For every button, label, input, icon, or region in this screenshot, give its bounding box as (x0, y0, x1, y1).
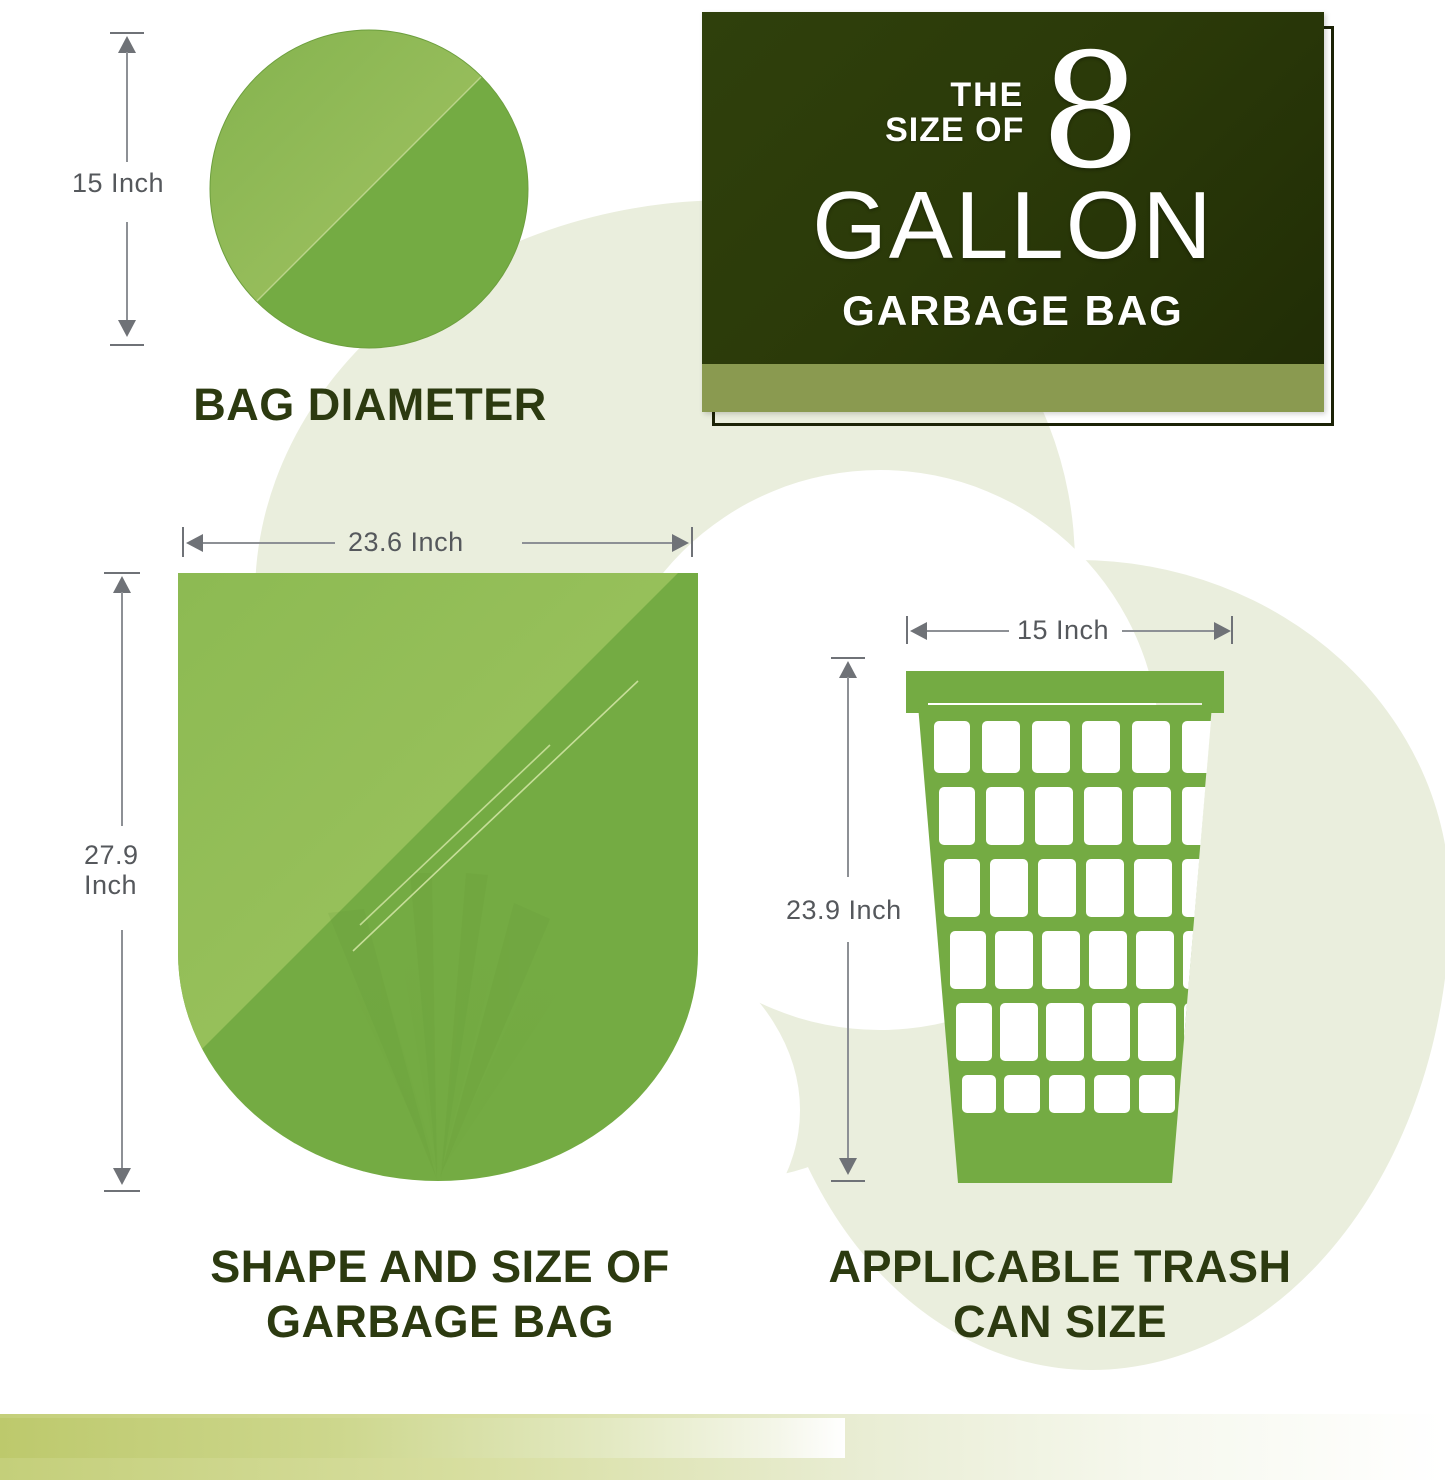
diameter-dim-arrow-up (118, 36, 136, 53)
can-width-cap-right (1231, 616, 1233, 644)
can-width-arrow-right (1214, 622, 1231, 640)
banner-top-row: THE SIZE OF 8 (885, 50, 1141, 183)
caption-garbage-bag-line2: GARBAGE BAG (266, 1296, 614, 1347)
caption-trash-can-line1: APPLICABLE TRASH (828, 1241, 1291, 1292)
can-width-line-right (1122, 630, 1214, 632)
can-height-arrow-down (839, 1158, 857, 1175)
banner-garbage-bag-word: GARBAGE BAG (842, 290, 1184, 332)
diameter-dim-cap-bottom (110, 344, 144, 346)
diameter-dim-label: 15 Inch (72, 168, 164, 198)
can-width-arrow-left (910, 622, 927, 640)
bag-height-label-line1: 27.9 (84, 840, 139, 870)
bag-height-cap-top (104, 572, 140, 574)
bag-width-line-right (522, 542, 672, 544)
garbage-bag-shape (178, 573, 698, 1181)
caption-bag-diameter: BAG DIAMETER (100, 378, 640, 433)
bag-height-line-upper (121, 592, 123, 826)
can-width-cap-left (906, 616, 908, 644)
infographic-canvas: 15 Inch BAG DIAMETER 23.6 I (0, 0, 1445, 1480)
banner-the-label: THE (950, 78, 1024, 113)
bag-width-arrow-left (186, 534, 203, 552)
banner-size-of-label: SIZE OF (885, 113, 1024, 148)
banner-the-size-of: THE SIZE OF (885, 78, 1024, 153)
bag-height-arrow-up (113, 576, 131, 593)
can-height-line-lower (847, 942, 849, 1158)
can-height-arrow-up (839, 661, 857, 678)
diameter-dim-line-upper (126, 52, 128, 162)
caption-trash-can: APPLICABLE TRASH CAN SIZE (775, 1240, 1345, 1350)
trash-can-shape (900, 665, 1230, 1190)
diameter-dim-line-lower (126, 222, 128, 320)
bag-height-cap-bottom (104, 1190, 140, 1192)
caption-trash-can-line2: CAN SIZE (953, 1296, 1167, 1347)
can-height-line-upper (847, 677, 849, 877)
bag-width-cap-left (182, 527, 184, 557)
banner-content: THE SIZE OF 8 GALLON GARBAGE BAG (702, 12, 1324, 364)
banner-gallon-number: 8 (1040, 46, 1141, 179)
can-width-line-left (927, 630, 1009, 632)
bag-height-line-lower (121, 930, 123, 1168)
bag-height-label: 27.9 Inch (84, 840, 139, 900)
can-width-label: 15 Inch (1017, 615, 1109, 645)
can-height-cap-top (831, 657, 865, 659)
caption-garbage-bag-line1: SHAPE AND SIZE OF (210, 1241, 669, 1292)
caption-garbage-bag: SHAPE AND SIZE OF GARBAGE BAG (90, 1240, 790, 1350)
can-height-label: 23.9 Inch (786, 895, 902, 925)
bag-width-label: 23.6 Inch (348, 527, 464, 557)
diameter-dim-arrow-down (118, 320, 136, 337)
banner-gallon-word: GALLON (812, 178, 1213, 274)
bag-width-arrow-right (672, 534, 689, 552)
can-height-cap-bottom (831, 1180, 865, 1182)
bag-height-label-line2: Inch (84, 870, 137, 900)
bag-diameter-circle (208, 28, 530, 350)
banner-bottom-strip (702, 364, 1324, 412)
diameter-dim-cap-top (110, 32, 144, 34)
bag-width-line-left (203, 542, 335, 544)
bag-height-arrow-down (113, 1168, 131, 1185)
bag-width-cap-right (691, 527, 693, 557)
footer-strip-front (0, 1418, 845, 1458)
gallon-banner: THE SIZE OF 8 GALLON GARBAGE BAG (702, 12, 1324, 412)
